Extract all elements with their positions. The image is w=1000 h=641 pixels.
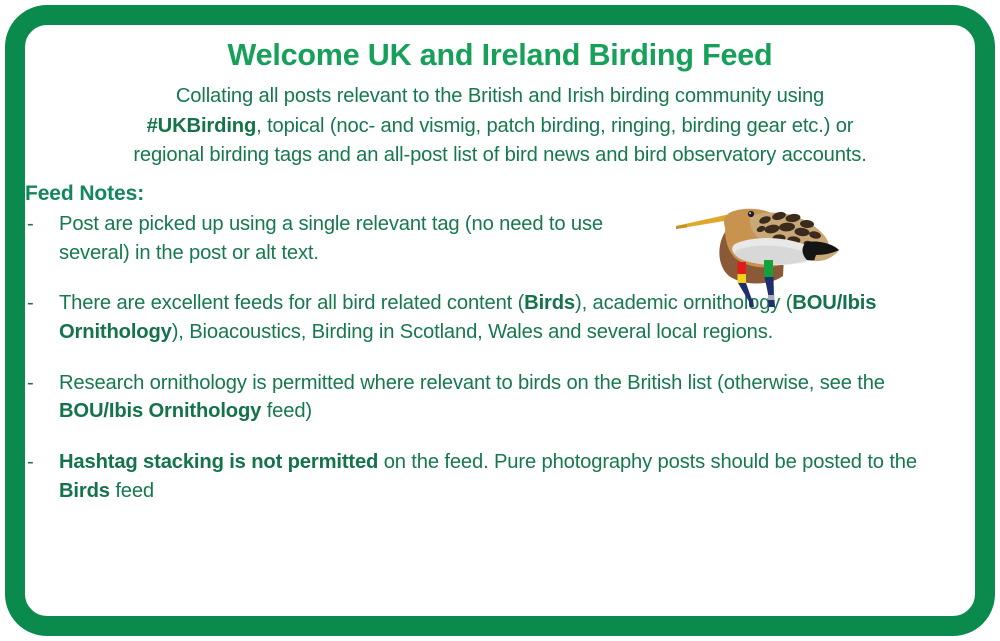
- eye: [748, 211, 754, 217]
- body-text: There are excellent feeds for all bird r…: [59, 292, 524, 314]
- bullet-dash: -: [27, 369, 34, 398]
- note-item-single-tag: - Post are picked up using a single rele…: [25, 210, 645, 267]
- bullet-dash: -: [27, 289, 34, 318]
- body-text: feed): [261, 400, 312, 422]
- emphasis-text: Birds: [59, 480, 110, 502]
- right-metal-ring: [768, 295, 775, 300]
- left-tibia: [738, 283, 752, 302]
- note-item-hashtag-stacking: - Hashtag stacking is not permitted on t…: [25, 448, 950, 505]
- colour-ring-yellow: [738, 274, 747, 283]
- bullet-dash: -: [27, 210, 34, 239]
- intro-hashtag: #UKBirding: [147, 115, 257, 137]
- body-text: Post are picked up using a single releva…: [59, 213, 603, 264]
- godwit-svg: [673, 182, 843, 307]
- birding-feed-card: Welcome UK and Ireland Birding Feed Coll…: [0, 0, 1000, 641]
- note-item-research-ornithology: - Research ornithology is permitted wher…: [25, 369, 950, 426]
- left-tarsus: [749, 299, 754, 307]
- page-title: Welcome UK and Ireland Birding Feed: [25, 25, 975, 73]
- note-text: Post are picked up using a single releva…: [59, 213, 603, 264]
- colour-ring-red: [738, 262, 747, 274]
- intro-line-3: regional birding tags and an all-post li…: [133, 144, 866, 166]
- intro-line-2: , topical (noc- and vismig, patch birdin…: [256, 115, 853, 137]
- note-text: Hashtag stacking is not permitted on the…: [59, 451, 917, 502]
- emphasis-text: Birds: [524, 292, 575, 314]
- bullet-dash: -: [27, 448, 34, 477]
- body-text: Research ornithology is permitted where …: [59, 372, 885, 394]
- emphasis-text: BOU/Ibis Ornithology: [59, 400, 261, 422]
- eye-highlight: [749, 212, 751, 214]
- emphasis-text: Hashtag stacking is not permitted: [59, 451, 378, 473]
- body-text: feed: [110, 480, 154, 502]
- black-tailed-godwit-illustration: [673, 182, 843, 307]
- body-text: on the feed. Pure photography posts shou…: [378, 451, 917, 473]
- colour-ring-green: [764, 260, 773, 277]
- right-tarsus: [768, 300, 775, 307]
- intro-line-1: Collating all posts relevant to the Brit…: [176, 85, 824, 107]
- note-text: Research ornithology is permitted where …: [59, 372, 885, 423]
- body-text: ), Bioacoustics, Birding in Scotland, Wa…: [172, 321, 773, 343]
- intro-paragraph: Collating all posts relevant to the Brit…: [25, 73, 975, 171]
